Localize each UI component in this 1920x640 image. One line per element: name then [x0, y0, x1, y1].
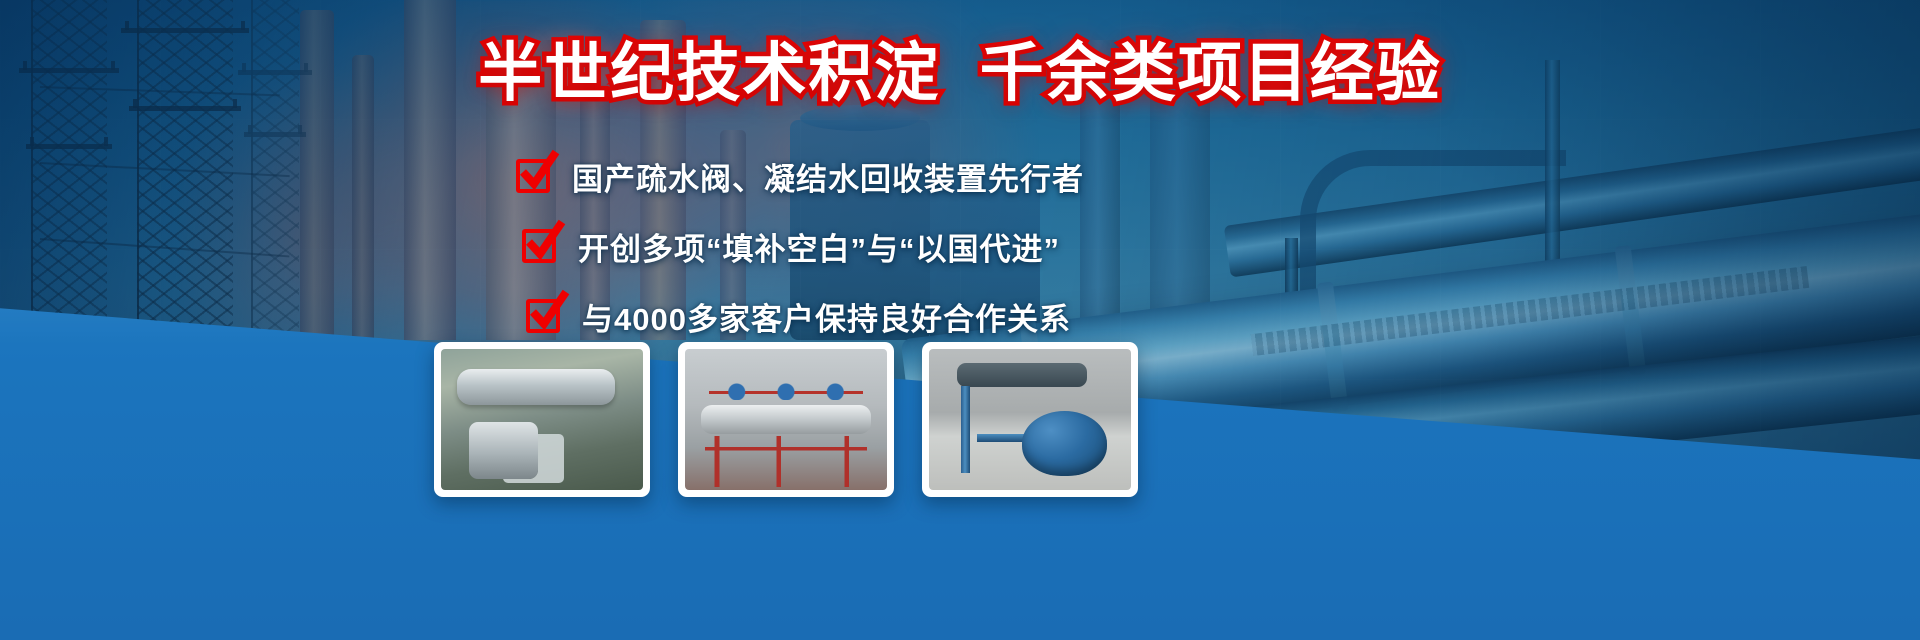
page-title: 半世纪技术积淀 千余类项目经验: [0, 38, 1920, 110]
tank-header-pipe: [977, 434, 1030, 442]
gallery-thumbnail[interactable]: [678, 342, 894, 497]
red-frame-valve-skid-photo: [685, 349, 887, 490]
list-item-label: 与4000多家客户保持良好合作关系: [582, 294, 1071, 339]
checkbox-checked-icon: [516, 159, 550, 193]
skid-frame-legs: [705, 436, 867, 487]
checkbox-checked-icon: [526, 299, 560, 333]
list-item: 与4000多家客户保持良好合作关系: [526, 292, 1516, 340]
tank-riser-pipe: [961, 386, 970, 473]
promotional-banner: 半世纪技术积淀 千余类项目经验 国产疏水阀、凝结水回收装置先行者 开创多项“填补…: [0, 0, 1920, 640]
stainless-steel-vessel-skid-photo: [441, 349, 643, 490]
blue-condensate-recovery-tank-photo: [929, 349, 1131, 490]
list-item-label: 国产疏水阀、凝结水回收装置先行者: [572, 154, 1084, 199]
checkbox-checked-icon: [522, 229, 556, 263]
gallery-thumbnail[interactable]: [434, 342, 650, 497]
gallery-thumbnail[interactable]: [922, 342, 1138, 497]
product-photo-gallery: [434, 342, 1138, 497]
list-item: 开创多项“填补空白”与“以国代进”: [522, 222, 1516, 270]
feature-list: 国产疏水阀、凝结水回收装置先行者 开创多项“填补空白”与“以国代进” 与4000…: [516, 152, 1516, 362]
list-item: 国产疏水阀、凝结水回收装置先行者: [516, 152, 1516, 200]
list-item-label: 开创多项“填补空白”与“以国代进”: [578, 224, 1060, 269]
